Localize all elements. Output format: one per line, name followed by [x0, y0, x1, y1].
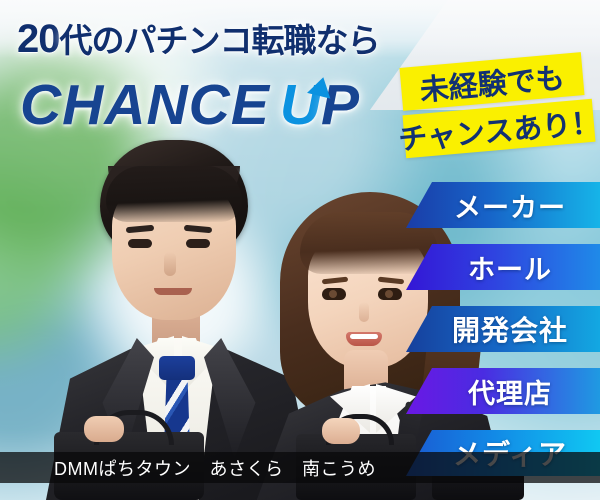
caption-bar: DMMぱちタウン あさくら 南こうめ	[0, 452, 600, 483]
tag-maker[interactable]: メーカー	[406, 182, 600, 228]
tag-development-company[interactable]: 開発会社	[406, 306, 600, 352]
tag-agency-label: 代理店	[406, 372, 600, 411]
tag-maker-label: メーカー	[406, 186, 600, 225]
tag-agency[interactable]: 代理店	[406, 368, 600, 414]
tag-hall-label: ホール	[406, 248, 600, 287]
tag-development-company-label: 開発会社	[406, 309, 600, 349]
tag-hall[interactable]: ホール	[406, 244, 600, 290]
caption-text: DMMぱちタウン あさくら 南こうめ	[0, 455, 376, 481]
job-category-list: メーカー ホール 開発会社 代理店 メディア	[0, 0, 600, 500]
recruitment-banner[interactable]: 20代のパチンコ転職なら CHANCEUP 未経験でも チャンスあり！ メーカー…	[0, 0, 600, 500]
